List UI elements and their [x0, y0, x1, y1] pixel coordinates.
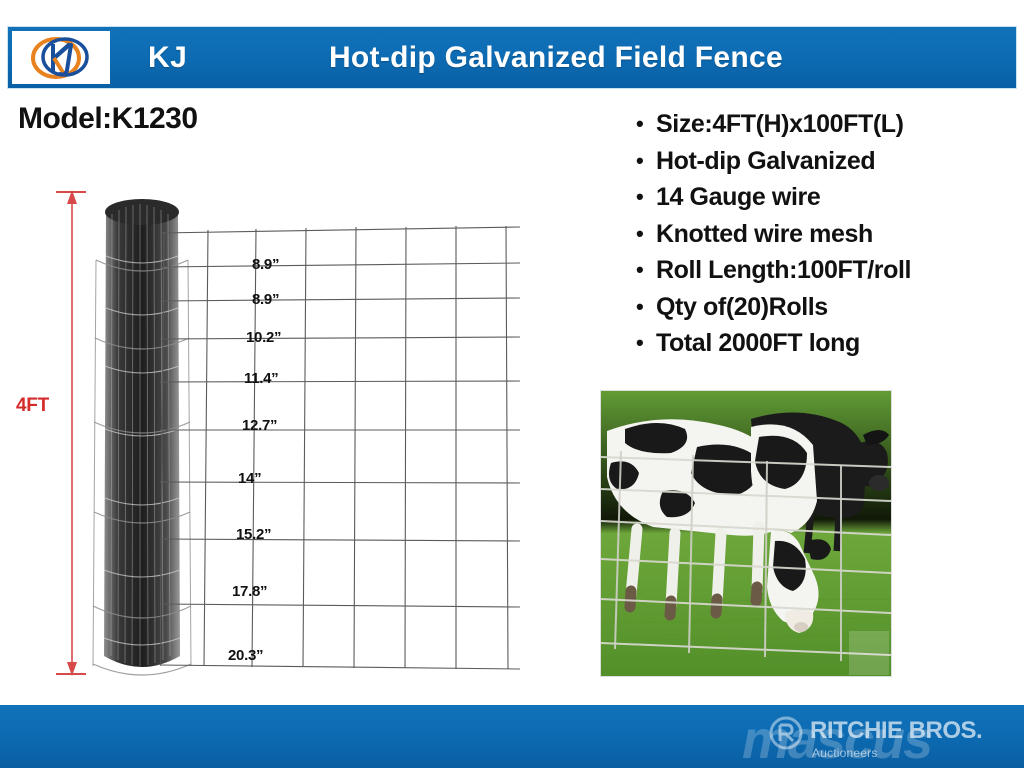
product-diagram: 4FT — [0, 170, 600, 700]
spacing-label: 8.9” — [252, 291, 279, 308]
ritchie-bros-name: RITCHIE BROS. — [810, 717, 1020, 745]
spec-item: Qty of(20)Rolls — [634, 289, 1014, 326]
header-bar: KJ Hot-dip Galvanized Field Fence — [8, 27, 1016, 88]
spacing-label: 8.9” — [252, 256, 279, 273]
spec-item: Knotted wire mesh — [634, 216, 1014, 253]
spec-item: Size:4FT(H)x100FT(L) — [634, 106, 1014, 143]
spacing-label: 17.8” — [232, 583, 267, 600]
spacing-label: 15.2” — [236, 526, 271, 543]
height-dimension-label: 4FT — [16, 395, 49, 417]
spacing-label: 14” — [238, 470, 261, 487]
spec-item: Total 2000FT long — [634, 325, 1014, 362]
spacing-label: 11.4” — [244, 370, 278, 387]
ritchie-bros-watermark: RITCHIE BROS. Auctioneers — [810, 717, 1020, 760]
spec-item: 14 Gauge wire — [634, 179, 1014, 216]
spacing-label: 12.7” — [242, 417, 277, 434]
spacing-label: 10.2” — [246, 329, 281, 346]
spacing-label: 20.3” — [228, 647, 263, 664]
spec-item: Hot-dip Galvanized — [634, 143, 1014, 180]
ritchie-bros-subtitle: Auctioneers — [812, 746, 1020, 760]
spec-item: Roll Length:100FT/roll — [634, 252, 1014, 289]
ritchie-bros-rb-icon — [768, 715, 804, 756]
cattle-behind-fence-photo — [600, 390, 892, 677]
page-title: Hot-dip Galvanized Field Fence — [8, 41, 1016, 75]
model-label: Model:K1230 — [18, 102, 198, 136]
specification-list: Size:4FT(H)x100FT(L) Hot-dip Galvanized … — [634, 106, 1014, 362]
bottom-watermark-bar: mascus RITCHIE BROS. Auctioneers — [0, 705, 1024, 768]
